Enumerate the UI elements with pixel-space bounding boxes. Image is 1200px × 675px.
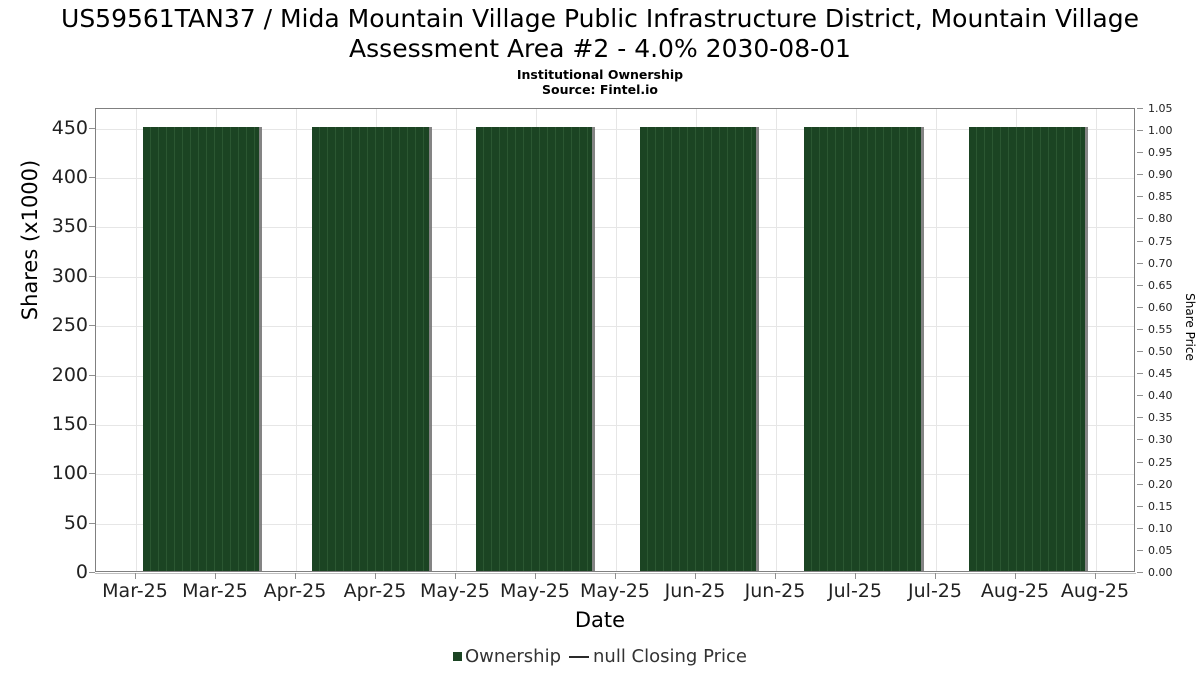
x-axis-tick-label: May-25 xyxy=(580,580,650,602)
x-axis-tick-mark xyxy=(295,573,296,579)
y-axis-right-title: Share Price xyxy=(1183,257,1197,397)
chart-legend: Ownership null Closing Price xyxy=(0,646,1200,667)
y-axis-right-tick-mark xyxy=(1137,174,1143,175)
y-axis-right-tick-mark xyxy=(1137,329,1143,330)
x-axis-tick-label: Jul-25 xyxy=(828,580,882,602)
y-axis-right-tick-label: 0.60 xyxy=(1148,302,1173,313)
y-axis-left-tick-label: 150 xyxy=(52,415,88,434)
y-axis-right-tick-label: 0.35 xyxy=(1148,412,1173,423)
gridline-vertical xyxy=(136,109,137,571)
y-axis-left-tick-mark xyxy=(89,375,95,376)
x-axis-tick-mark xyxy=(375,573,376,579)
y-axis-right-tick-label: 0.80 xyxy=(1148,213,1173,224)
x-axis-title: Date xyxy=(0,608,1200,632)
chart-source: Source: Fintel.io xyxy=(0,82,1200,97)
y-axis-right-tick-label: 0.85 xyxy=(1148,191,1173,202)
x-axis-tick-mark xyxy=(935,573,936,579)
y-axis-left-title: Shares (x1000) xyxy=(18,60,42,420)
bar-ownership[interactable] xyxy=(640,127,756,571)
y-axis-right-tick-mark xyxy=(1137,417,1143,418)
x-axis-tick-label: Aug-25 xyxy=(1061,580,1129,602)
y-axis-left-tick-label: 50 xyxy=(64,514,88,533)
y-axis-right-tick-label: 0.25 xyxy=(1148,457,1173,468)
legend-item-closing-price[interactable]: null Closing Price xyxy=(561,646,747,667)
y-axis-right-tick-label: 1.00 xyxy=(1148,125,1173,136)
x-axis-tick-label: Jun-25 xyxy=(745,580,806,602)
y-axis-left-tick-label: 250 xyxy=(52,316,88,335)
y-axis-left-tick-mark xyxy=(89,424,95,425)
bar-ownership[interactable] xyxy=(969,127,1085,571)
y-axis-right-tick-label: 0.40 xyxy=(1148,390,1173,401)
x-axis-tick-mark xyxy=(135,573,136,579)
y-axis-right-tick-mark xyxy=(1137,285,1143,286)
y-axis-right-tick-mark xyxy=(1137,263,1143,264)
y-axis-left-tick-mark xyxy=(89,128,95,129)
y-axis-left-tick-mark xyxy=(89,325,95,326)
y-axis-right-tick-mark xyxy=(1137,130,1143,131)
y-axis-right-tick-label: 1.05 xyxy=(1148,103,1173,114)
x-axis-tick-mark xyxy=(695,573,696,579)
gridline-vertical xyxy=(936,109,937,571)
y-axis-right-tick-mark xyxy=(1137,506,1143,507)
x-axis-tick-label: Mar-25 xyxy=(182,580,248,602)
y-axis-right-tick-mark xyxy=(1137,462,1143,463)
gridline-vertical xyxy=(296,109,297,571)
x-axis-tick-label: May-25 xyxy=(420,580,490,602)
y-axis-left-tick-label: 200 xyxy=(52,366,88,385)
y-axis-left-tick-label: 0 xyxy=(76,563,88,582)
y-axis-right-tick-mark xyxy=(1137,484,1143,485)
y-axis-right-tick-mark xyxy=(1137,439,1143,440)
y-axis-right-tick-mark xyxy=(1137,572,1143,573)
chart-subtitle: Institutional Ownership xyxy=(0,67,1200,82)
title-block: US59561TAN37 / Mida Mountain Village Pub… xyxy=(0,4,1200,97)
y-axis-left-tick-mark xyxy=(89,473,95,474)
y-axis-left-tick-label: 300 xyxy=(52,267,88,286)
gridline-vertical xyxy=(1096,109,1097,571)
bar-ownership[interactable] xyxy=(312,127,428,571)
y-axis-right-tick-label: 0.05 xyxy=(1148,545,1173,556)
plot-area xyxy=(95,108,1135,572)
gridline-vertical xyxy=(616,109,617,571)
y-axis-right-tick-label: 0.50 xyxy=(1148,346,1173,357)
y-axis-left-tick-label: 450 xyxy=(52,119,88,138)
y-axis-right-tick-mark xyxy=(1137,241,1143,242)
y-axis-right-tick-label: 0.75 xyxy=(1148,236,1173,247)
y-axis-left-tick-label: 400 xyxy=(52,168,88,187)
chart-container: US59561TAN37 / Mida Mountain Village Pub… xyxy=(0,0,1200,675)
legend-square-icon xyxy=(453,652,462,661)
x-axis-tick-label: Apr-25 xyxy=(264,580,327,602)
legend-item-ownership[interactable]: Ownership xyxy=(453,646,561,667)
x-axis-tick-label: May-25 xyxy=(500,580,570,602)
y-axis-right-tick-label: 0.00 xyxy=(1148,567,1173,578)
legend-label-closing-price: null Closing Price xyxy=(593,646,747,667)
y-axis-right-tick-mark xyxy=(1137,395,1143,396)
x-axis-tick-label: Aug-25 xyxy=(981,580,1049,602)
x-axis-tick-label: Jul-25 xyxy=(908,580,962,602)
y-axis-left-tick-mark xyxy=(89,226,95,227)
y-axis-right-tick-label: 0.65 xyxy=(1148,280,1173,291)
y-axis-right-tick-mark xyxy=(1137,218,1143,219)
chart-title: US59561TAN37 / Mida Mountain Village Pub… xyxy=(30,4,1170,64)
y-axis-right-tick-label: 0.90 xyxy=(1148,169,1173,180)
gridline-vertical xyxy=(456,109,457,571)
x-axis-tick-mark xyxy=(1015,573,1016,579)
y-axis-right-tick-label: 0.55 xyxy=(1148,324,1173,335)
y-axis-right-tick-mark xyxy=(1137,152,1143,153)
bar-ownership[interactable] xyxy=(476,127,592,571)
x-axis-tick-label: Apr-25 xyxy=(344,580,407,602)
y-axis-right-tick-label: 0.10 xyxy=(1148,523,1173,534)
y-axis-right-tick-label: 0.20 xyxy=(1148,479,1173,490)
y-axis-right-tick-mark xyxy=(1137,108,1143,109)
x-axis-tick-mark xyxy=(215,573,216,579)
x-axis-tick-mark xyxy=(455,573,456,579)
bar-ownership[interactable] xyxy=(804,127,920,571)
x-axis-tick-label: Mar-25 xyxy=(102,580,168,602)
y-axis-left-tick-label: 350 xyxy=(52,217,88,236)
y-axis-left-tick-label: 100 xyxy=(52,464,88,483)
x-axis-tick-mark xyxy=(615,573,616,579)
legend-label-ownership: Ownership xyxy=(465,646,561,667)
y-axis-right-tick-label: 0.15 xyxy=(1148,501,1173,512)
y-axis-right-tick-mark xyxy=(1137,528,1143,529)
y-axis-left-tick-mark xyxy=(89,177,95,178)
y-axis-right-tick-mark xyxy=(1137,351,1143,352)
y-axis-right-tick-label: 0.95 xyxy=(1148,147,1173,158)
y-axis-right-tick-label: 0.70 xyxy=(1148,258,1173,269)
legend-line-icon xyxy=(569,656,589,658)
x-axis-tick-mark xyxy=(1095,573,1096,579)
y-axis-right-tick-mark xyxy=(1137,550,1143,551)
x-axis-tick-mark xyxy=(775,573,776,579)
x-axis-tick-label: Jun-25 xyxy=(665,580,726,602)
x-axis-tick-mark xyxy=(855,573,856,579)
y-axis-left-tick-mark xyxy=(89,523,95,524)
gridline-vertical xyxy=(776,109,777,571)
y-axis-right-tick-label: 0.45 xyxy=(1148,368,1173,379)
y-axis-right-tick-mark xyxy=(1137,373,1143,374)
x-axis-tick-mark xyxy=(535,573,536,579)
y-axis-right-tick-label: 0.30 xyxy=(1148,434,1173,445)
y-axis-right-tick-mark xyxy=(1137,196,1143,197)
bar-ownership[interactable] xyxy=(143,127,259,571)
y-axis-left-tick-mark xyxy=(89,276,95,277)
y-axis-right-tick-mark xyxy=(1137,307,1143,308)
